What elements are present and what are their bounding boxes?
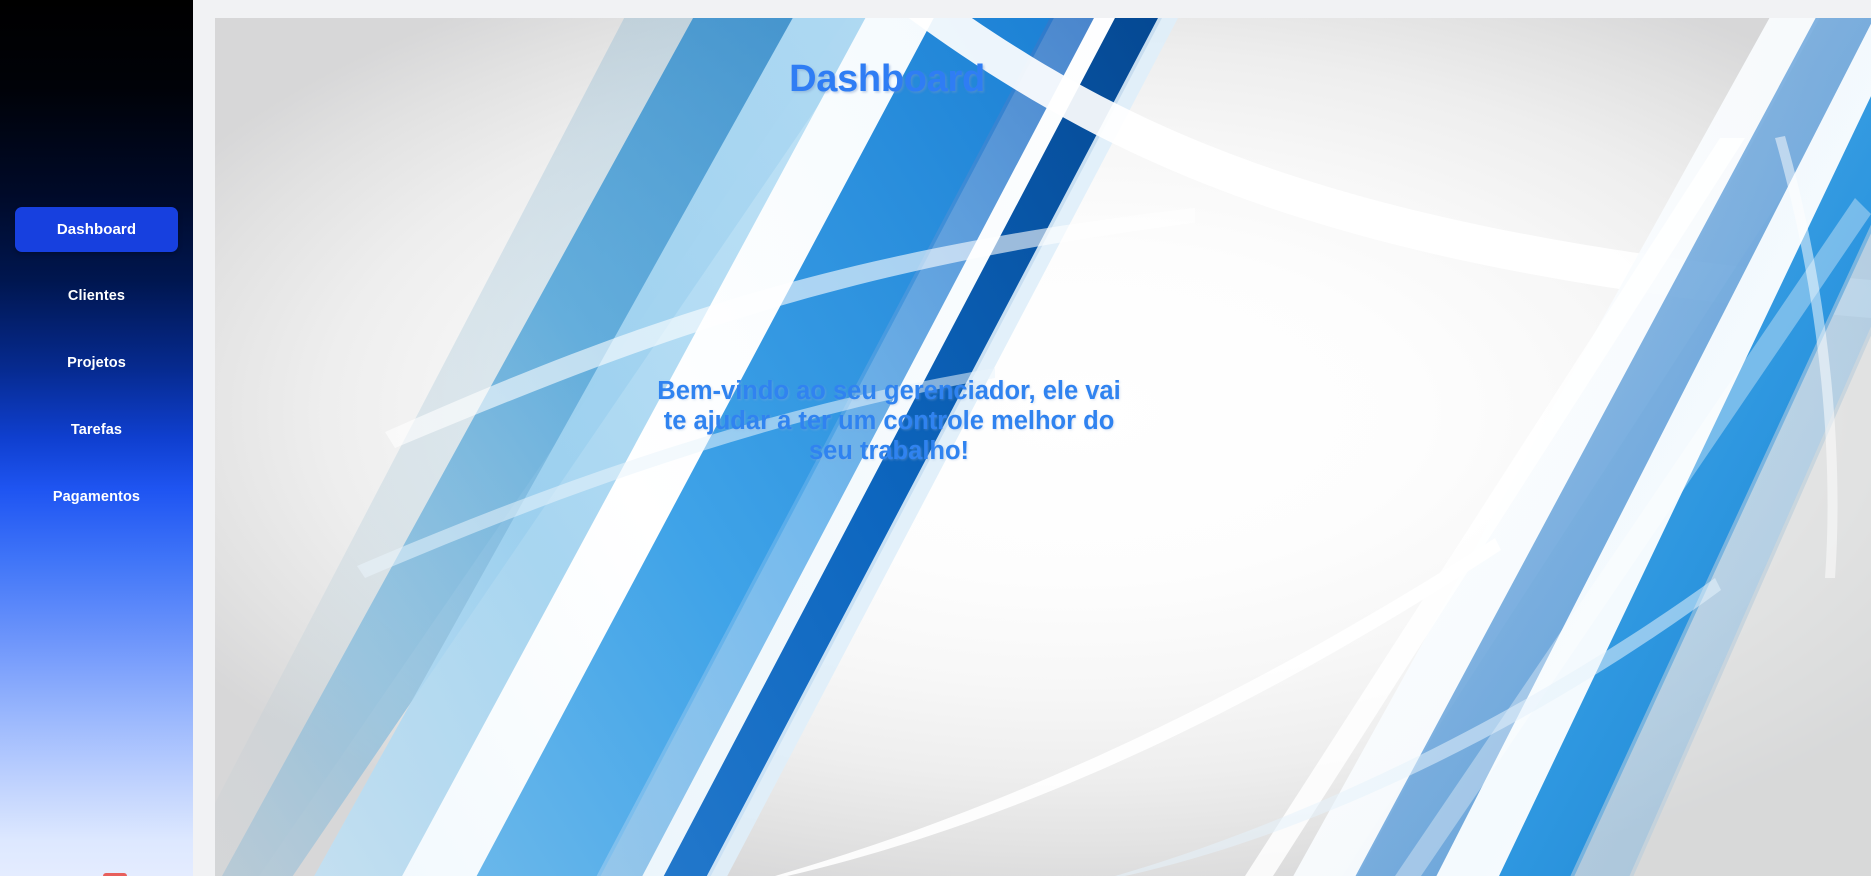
page-title: Dashboard (215, 58, 1559, 101)
sidebar-item-label: Clientes (68, 289, 125, 304)
sidebar-item-pagamentos[interactable]: Pagamentos (15, 475, 178, 520)
sidebar: Dashboard Clientes Projetos Tarefas Paga… (0, 0, 193, 876)
sidebar-item-clientes[interactable]: Clientes (15, 274, 178, 319)
sidebar-item-label: Pagamentos (53, 490, 140, 505)
sidebar-item-tarefas[interactable]: Tarefas (15, 408, 178, 453)
main-content-panel: Dashboard Bem-vindo ao seu gerenciador, … (215, 18, 1871, 876)
app-root: Dashboard Clientes Projetos Tarefas Paga… (0, 0, 1871, 876)
welcome-message: Bem-vindo ao seu gerenciador, ele vai te… (649, 376, 1129, 466)
sidebar-item-label: Tarefas (71, 423, 122, 438)
sidebar-item-label: Dashboard (57, 222, 136, 237)
sidebar-item-label: Projetos (67, 356, 126, 371)
sidebar-item-dashboard[interactable]: Dashboard (15, 207, 178, 252)
sidebar-item-projetos[interactable]: Projetos (15, 341, 178, 386)
